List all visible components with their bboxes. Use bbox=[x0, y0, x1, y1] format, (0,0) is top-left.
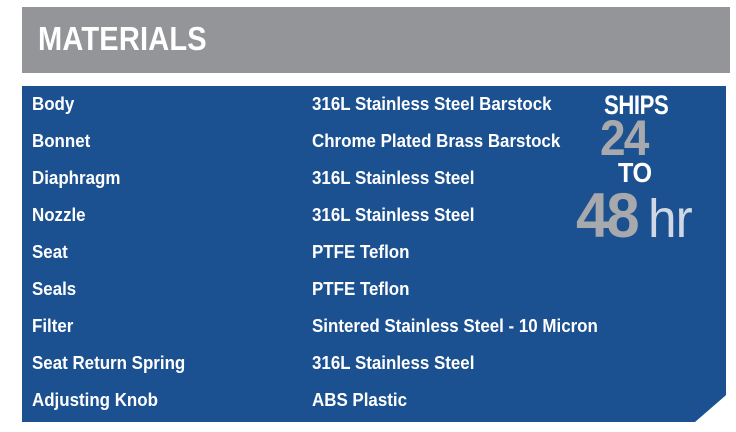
table-row: Seals PTFE Teflon bbox=[22, 271, 726, 308]
materials-table-panel: SHIPS 24 TO 48 hr Body 316L Stainless St… bbox=[22, 86, 726, 422]
row-component-label: Seals bbox=[32, 279, 76, 300]
row-material-value: 316L Stainless Steel bbox=[312, 353, 474, 374]
row-material-value: PTFE Teflon bbox=[312, 242, 409, 263]
row-component-label: Seat bbox=[32, 242, 68, 263]
row-material-value: 316L Stainless Steel Barstock bbox=[312, 94, 552, 115]
page-title: MATERIALS bbox=[38, 20, 207, 58]
table-row: Body 316L Stainless Steel Barstock bbox=[22, 86, 726, 123]
row-material-value: PTFE Teflon bbox=[312, 279, 409, 300]
row-material-value: Sintered Stainless Steel - 10 Micron bbox=[312, 316, 598, 337]
table-row: Filter Sintered Stainless Steel - 10 Mic… bbox=[22, 308, 726, 345]
header-bar: MATERIALS bbox=[22, 7, 730, 73]
table-row: Seat Return Spring 316L Stainless Steel bbox=[22, 345, 726, 382]
materials-row-list: Body 316L Stainless Steel Barstock Bonne… bbox=[22, 86, 726, 419]
table-row: Bonnet Chrome Plated Brass Barstock bbox=[22, 123, 726, 160]
table-row: Diaphragm 316L Stainless Steel bbox=[22, 160, 726, 197]
table-row: Nozzle 316L Stainless Steel bbox=[22, 197, 726, 234]
materials-spec-sheet: MATERIALS SHIPS 24 TO 48 hr Body 316L St… bbox=[0, 0, 736, 432]
row-material-value: Chrome Plated Brass Barstock bbox=[312, 131, 560, 152]
row-component-label: Seat Return Spring bbox=[32, 353, 185, 374]
row-component-label: Body bbox=[32, 94, 74, 115]
row-component-label: Adjusting Knob bbox=[32, 390, 158, 411]
row-material-value: ABS Plastic bbox=[312, 390, 407, 411]
row-component-label: Bonnet bbox=[32, 131, 90, 152]
row-component-label: Nozzle bbox=[32, 205, 86, 226]
row-component-label: Filter bbox=[32, 316, 73, 337]
row-component-label: Diaphragm bbox=[32, 168, 120, 189]
row-material-value: 316L Stainless Steel bbox=[312, 205, 474, 226]
table-row: Adjusting Knob ABS Plastic bbox=[22, 382, 726, 419]
table-row: Seat PTFE Teflon bbox=[22, 234, 726, 271]
row-material-value: 316L Stainless Steel bbox=[312, 168, 474, 189]
